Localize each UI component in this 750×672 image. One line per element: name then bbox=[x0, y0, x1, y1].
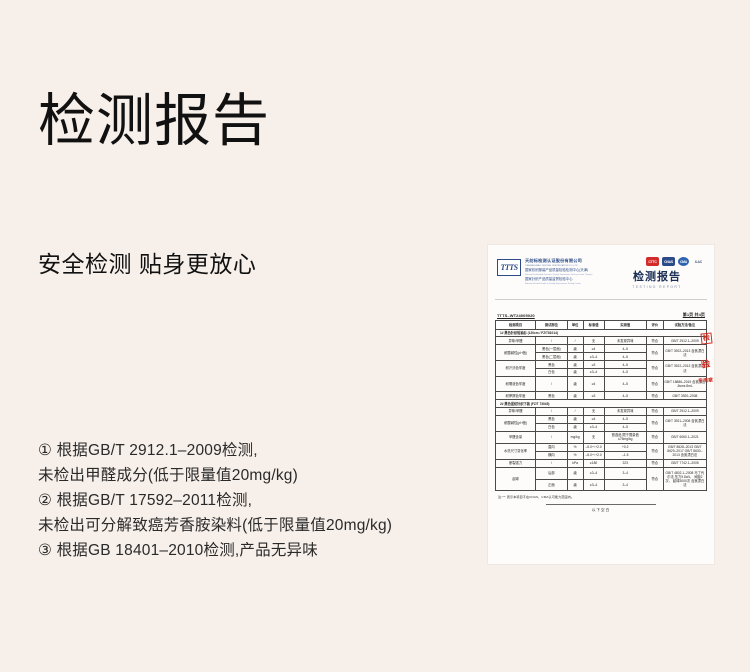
cell-part: 横向 bbox=[536, 451, 568, 459]
cell-item: 甲醛含量 bbox=[496, 431, 536, 443]
cell-measured: 4–5 bbox=[604, 369, 646, 377]
badge-cttc-icon: CTTC bbox=[646, 257, 659, 266]
claim-item-2-line-2: 未检出可分解致癌芳香胺染料(低于限量值20mg/kg) bbox=[38, 513, 392, 538]
cell-measured: 223 bbox=[604, 459, 646, 467]
cell-item: 耐摩擦色牢度 bbox=[496, 392, 536, 400]
end-divider bbox=[546, 504, 656, 505]
cell-verdict: 符合 bbox=[646, 361, 663, 377]
claim-item-3-line-1: ③ 根据GB 18401–2010检测,产品无异味 bbox=[38, 538, 392, 563]
table-row: 耐酸碱性(pH值) 黑色(一层面) 级 ≥4 4–5 符合 GB/T 3922–… bbox=[496, 345, 707, 353]
cell-standard: ≥4 bbox=[583, 415, 604, 423]
cell-verdict: 符合 bbox=[646, 431, 663, 443]
claim-item-1-line-2: 未检出甲醛成分(低于限量值20mg/kg) bbox=[38, 463, 392, 488]
cell-part: 白色 bbox=[536, 369, 568, 377]
cell-item: 耐酸碱性(pH值) bbox=[496, 345, 536, 361]
cell-verdict: 符合 bbox=[646, 345, 663, 361]
cell-method: GB/T 3922–2013 含氯漂白法 bbox=[663, 361, 706, 377]
end-text: 以下空白 bbox=[495, 508, 707, 513]
cell-unit: % bbox=[567, 443, 583, 451]
report-document-page: TTTS 天纺标检测认证股份有限公司 TIANFANGBIAO TESTING … bbox=[495, 251, 707, 558]
report-title-block: 检测报告 TESTING REPORT bbox=[621, 271, 693, 289]
cell-unit: 级 bbox=[567, 376, 583, 391]
cell-part: 黑色 bbox=[536, 361, 568, 369]
badge-ilac-icon: ILAC bbox=[692, 257, 705, 266]
cell-method: GB/T 3922–2013 含氯漂白法 bbox=[663, 345, 706, 361]
cell-unit: / bbox=[567, 337, 583, 345]
cell-standard: 无 bbox=[583, 337, 604, 345]
report-meta-row: TTTS–WT24005020 第1页 共4页 bbox=[495, 312, 707, 319]
cell-standard: 无 bbox=[583, 431, 604, 443]
cell-standard: ≥4 bbox=[583, 345, 604, 353]
cell-unit: kPa bbox=[567, 459, 583, 467]
cell-unit: 级 bbox=[567, 415, 583, 423]
th-method: 试验方法/备注 bbox=[663, 321, 706, 330]
cell-method: GB/T 4802.1–2008 马丁代尔法 压力9.8cN、 间距2次、 起球… bbox=[663, 467, 706, 491]
cell-measured: 4–5 bbox=[604, 415, 646, 423]
section-subtitle: 安全检测 贴身更放心 bbox=[38, 245, 256, 279]
table-section-row: 1# 黑色针织短袖衫 (120cm / FZ/T81014) bbox=[496, 329, 707, 337]
th-item: 检测项目 bbox=[496, 321, 536, 330]
th-measured: 实测值 bbox=[604, 321, 646, 330]
cell-standard: ≥3–4 bbox=[583, 369, 604, 377]
cell-standard: ≥3–4 bbox=[583, 353, 604, 361]
cell-method: GB/T 7742.1–2005 bbox=[663, 459, 706, 467]
th-unit: 单位 bbox=[567, 321, 583, 330]
cell-part: 黑色(一层面) bbox=[536, 345, 568, 353]
cell-part: / bbox=[536, 408, 568, 416]
cell-part: 正面 bbox=[536, 479, 568, 491]
cell-unit: 级 bbox=[567, 392, 583, 400]
section-label-1: 1# 黑色针织短袖衫 (120cm / FZ/T81014) bbox=[496, 329, 707, 337]
claim-item-2-line-1: ② 根据GB/T 17592–2011检测, bbox=[38, 488, 392, 513]
cell-verdict: 符合 bbox=[646, 392, 663, 400]
report-header: TTTS 天纺标检测认证股份有限公司 TIANFANGBIAO TESTING … bbox=[495, 251, 707, 297]
claim-item-1-line-1: ① 根据GB/T 2912.1–2009检测, bbox=[38, 438, 392, 463]
header-divider bbox=[495, 299, 707, 300]
cell-standard: ≥3 bbox=[583, 361, 604, 369]
cell-item: 起球 bbox=[496, 467, 536, 491]
claims-list: ① 根据GB/T 2912.1–2009检测, 未检出甲醛成分(低于限量值20m… bbox=[38, 438, 392, 563]
report-title-en: TESTING REPORT bbox=[621, 285, 693, 289]
cell-item: 断裂强力 bbox=[496, 459, 536, 467]
cell-verdict: 符合 bbox=[646, 408, 663, 416]
cell-standard: ≥3 bbox=[583, 392, 604, 400]
cell-standard: –5.0～+2.0 bbox=[583, 443, 604, 451]
lab-name-block: 天纺标检测认证股份有限公司 TIANFANGBIAO TESTING CERTI… bbox=[525, 259, 592, 285]
th-verdict: 评价 bbox=[646, 321, 663, 330]
cell-measured: 未发现异味 bbox=[604, 337, 646, 345]
report-title-cn: 检测报告 bbox=[621, 271, 693, 284]
cell-unit: 级 bbox=[567, 345, 583, 353]
badge-cma-icon: CMA bbox=[678, 257, 689, 266]
cell-measured: 4–5 bbox=[604, 361, 646, 369]
cell-standard: ≥4 bbox=[583, 376, 604, 391]
cell-unit: % bbox=[567, 451, 583, 459]
cell-measured: 4–5 bbox=[604, 345, 646, 353]
cell-unit: 级 bbox=[567, 369, 583, 377]
lab-name-en-1: National Textile And Garment Quality Sup… bbox=[525, 274, 592, 276]
lab-name-cn-1: 国家纺织服装产品质量检验检测中心(天津) bbox=[525, 269, 592, 273]
table-row: 异味/甲醛 / / 无 未发现异味 符合 GB/T 2912.1–2009 bbox=[496, 408, 707, 416]
table-row: 耐汗渍色牢度 黑色 级 ≥3 4–5 符合 GB/T 3922–2013 含氯漂… bbox=[496, 361, 707, 369]
company-name-cn: 天纺标检测认证股份有限公司 bbox=[525, 259, 592, 264]
cell-method: GB/T 6060.1–2021 bbox=[663, 431, 706, 443]
th-standard: 标准值 bbox=[583, 321, 604, 330]
table-row: 耐酸碱性(pH值) 黑色 级 ≥4 4–5 符合 GB/T 3921–2008 … bbox=[496, 415, 707, 423]
cell-part: / bbox=[536, 431, 568, 443]
table-row: 起球 后部 级 ≥3–4 3–4 符合 GB/T 4802.1–2008 马丁代… bbox=[496, 467, 707, 479]
cell-part: 直向 bbox=[536, 443, 568, 451]
cell-part: / bbox=[536, 337, 568, 345]
cell-measured: 4–5 bbox=[604, 353, 646, 361]
cell-unit: 级 bbox=[567, 353, 583, 361]
cell-verdict: 符合 bbox=[646, 337, 663, 345]
cell-part: 黑色(二层面) bbox=[536, 353, 568, 361]
company-name-en: TIANFANGBIAO TESTING CERTIFICATION CO.,L… bbox=[525, 265, 592, 267]
cell-standard: ≥180 bbox=[583, 459, 604, 467]
cell-method: GB/T 8628–2013 GB/T 8629–2017 GB/T 8630–… bbox=[663, 443, 706, 459]
cell-method: GB/T 3920–2008 bbox=[663, 392, 706, 400]
cell-unit: 级 bbox=[567, 479, 583, 491]
cell-measured: 4–5 bbox=[604, 392, 646, 400]
cell-unit: 级 bbox=[567, 361, 583, 369]
table-section-row: 2# 黑色混纺针织下装 (FZ/T 73045) bbox=[496, 400, 707, 408]
table-row: 甲醛含量 / mg/kg 无 首选品 限于限量值≤75mg/kg 符合 GB/T… bbox=[496, 431, 707, 443]
cell-method: GB/T 3921–2008 含氯漂白法 bbox=[663, 415, 706, 431]
cell-measured: 未发现异味 bbox=[604, 408, 646, 416]
cell-standard: ≥3–4 bbox=[583, 423, 604, 431]
cell-measured: 3–4 bbox=[604, 479, 646, 491]
cell-measured: 4–5 bbox=[604, 376, 646, 391]
table-footnote: 注:"*" 表示本项目不在CNAS、CMA认可能力范围内。 bbox=[495, 494, 707, 499]
report-number: TTTS–WT24005020 bbox=[497, 313, 535, 318]
lab-logo: TTTS 天纺标检测认证股份有限公司 TIANFANGBIAO TESTING … bbox=[497, 259, 592, 285]
cell-unit: 级 bbox=[567, 423, 583, 431]
cell-measured: 4–5 bbox=[604, 423, 646, 431]
cell-verdict: 符合 bbox=[646, 459, 663, 467]
cell-part: 后部 bbox=[536, 467, 568, 479]
badge-cnas-icon: CNAS bbox=[662, 257, 675, 266]
cell-standard: ≥3–4 bbox=[583, 467, 604, 479]
cell-verdict: 符合 bbox=[646, 467, 663, 491]
cell-measured: 3–4 bbox=[604, 467, 646, 479]
section-label-2: 2# 黑色混纺针织下装 (FZ/T 73045) bbox=[496, 400, 707, 408]
table-row: 断裂强力 / kPa ≥180 223 符合 GB/T 7742.1–2005 bbox=[496, 459, 707, 467]
table-row: 异味/甲醛 / / 无 未发现异味 符合 GB/T 2912.1–2009 bbox=[496, 337, 707, 345]
cell-item: 异味/甲醛 bbox=[496, 337, 536, 345]
cell-part: / bbox=[536, 459, 568, 467]
cell-standard: 无 bbox=[583, 408, 604, 416]
report-document-image: TTTS 天纺标检测认证股份有限公司 TIANFANGBIAO TESTING … bbox=[488, 245, 714, 564]
table-row: 耐摩擦色牢度 黑色 级 ≥3 4–5 符合 GB/T 3920–2008 bbox=[496, 392, 707, 400]
cell-unit: mg/kg bbox=[567, 431, 583, 443]
cell-standard: ≥3–4 bbox=[583, 479, 604, 491]
cell-item: 水洗尺寸变化率 bbox=[496, 443, 536, 459]
cell-verdict: 符合 bbox=[646, 415, 663, 431]
cell-item: 耐唾液色牢度 bbox=[496, 376, 536, 391]
cell-item: 耐酸碱性(pH值) bbox=[496, 415, 536, 431]
cell-part: / bbox=[536, 376, 568, 391]
table-body: 1# 黑色针织短袖衫 (120cm / FZ/T81014) 异味/甲醛 / /… bbox=[496, 329, 707, 491]
cell-item: 耐汗渍色牢度 bbox=[496, 361, 536, 377]
report-page-count: 第1页 共4页 bbox=[683, 312, 705, 318]
tts-logo-icon: TTTS bbox=[497, 259, 521, 276]
cell-part: 黑色 bbox=[536, 392, 568, 400]
cell-part: 白色 bbox=[536, 423, 568, 431]
cell-part: 黑色 bbox=[536, 415, 568, 423]
page-title: 检测报告 bbox=[38, 92, 270, 152]
cell-measured: +0.2 bbox=[604, 443, 646, 451]
cell-unit: 级 bbox=[567, 467, 583, 479]
results-table: 检测项目 测试部位 单位 标准值 实测值 评价 试验方法/备注 1# 黑色针织短… bbox=[495, 320, 707, 491]
cell-verdict: 符合 bbox=[646, 376, 663, 391]
cell-method: GB/T 2912.1–2009 bbox=[663, 408, 706, 416]
table-row: 耐唾液色牢度 / 级 ≥4 4–5 符合 GB/T 18886–2019 含氯漂… bbox=[496, 376, 707, 391]
accreditation-badges: CTTC CNAS CMA ILAC bbox=[646, 257, 705, 266]
cell-standard: –5.0～+2.0 bbox=[583, 451, 604, 459]
lab-name-en-2: National Knitted Products Quality Superv… bbox=[525, 283, 592, 285]
table-header-row: 检测项目 测试部位 单位 标准值 实测值 评价 试验方法/备注 bbox=[496, 321, 707, 330]
cell-method: GB/T 18886–2019 含氯漂白 Jisms 8mL bbox=[663, 376, 706, 391]
th-part: 测试部位 bbox=[536, 321, 568, 330]
table-row: 水洗尺寸变化率 直向 % –5.0～+2.0 +0.2 符合 GB/T 8628… bbox=[496, 443, 707, 451]
lab-name-cn-2: 国家针织产品质量监督检验中心 bbox=[525, 278, 592, 282]
cell-measured: –1.5 bbox=[604, 451, 646, 459]
cell-method: GB/T 2912.1–2009 bbox=[663, 337, 706, 345]
cell-measured: 首选品 限于限量值≤75mg/kg bbox=[604, 431, 646, 443]
cell-unit: / bbox=[567, 408, 583, 416]
cell-item: 异味/甲醛 bbox=[496, 408, 536, 416]
cell-verdict: 符合 bbox=[646, 443, 663, 459]
